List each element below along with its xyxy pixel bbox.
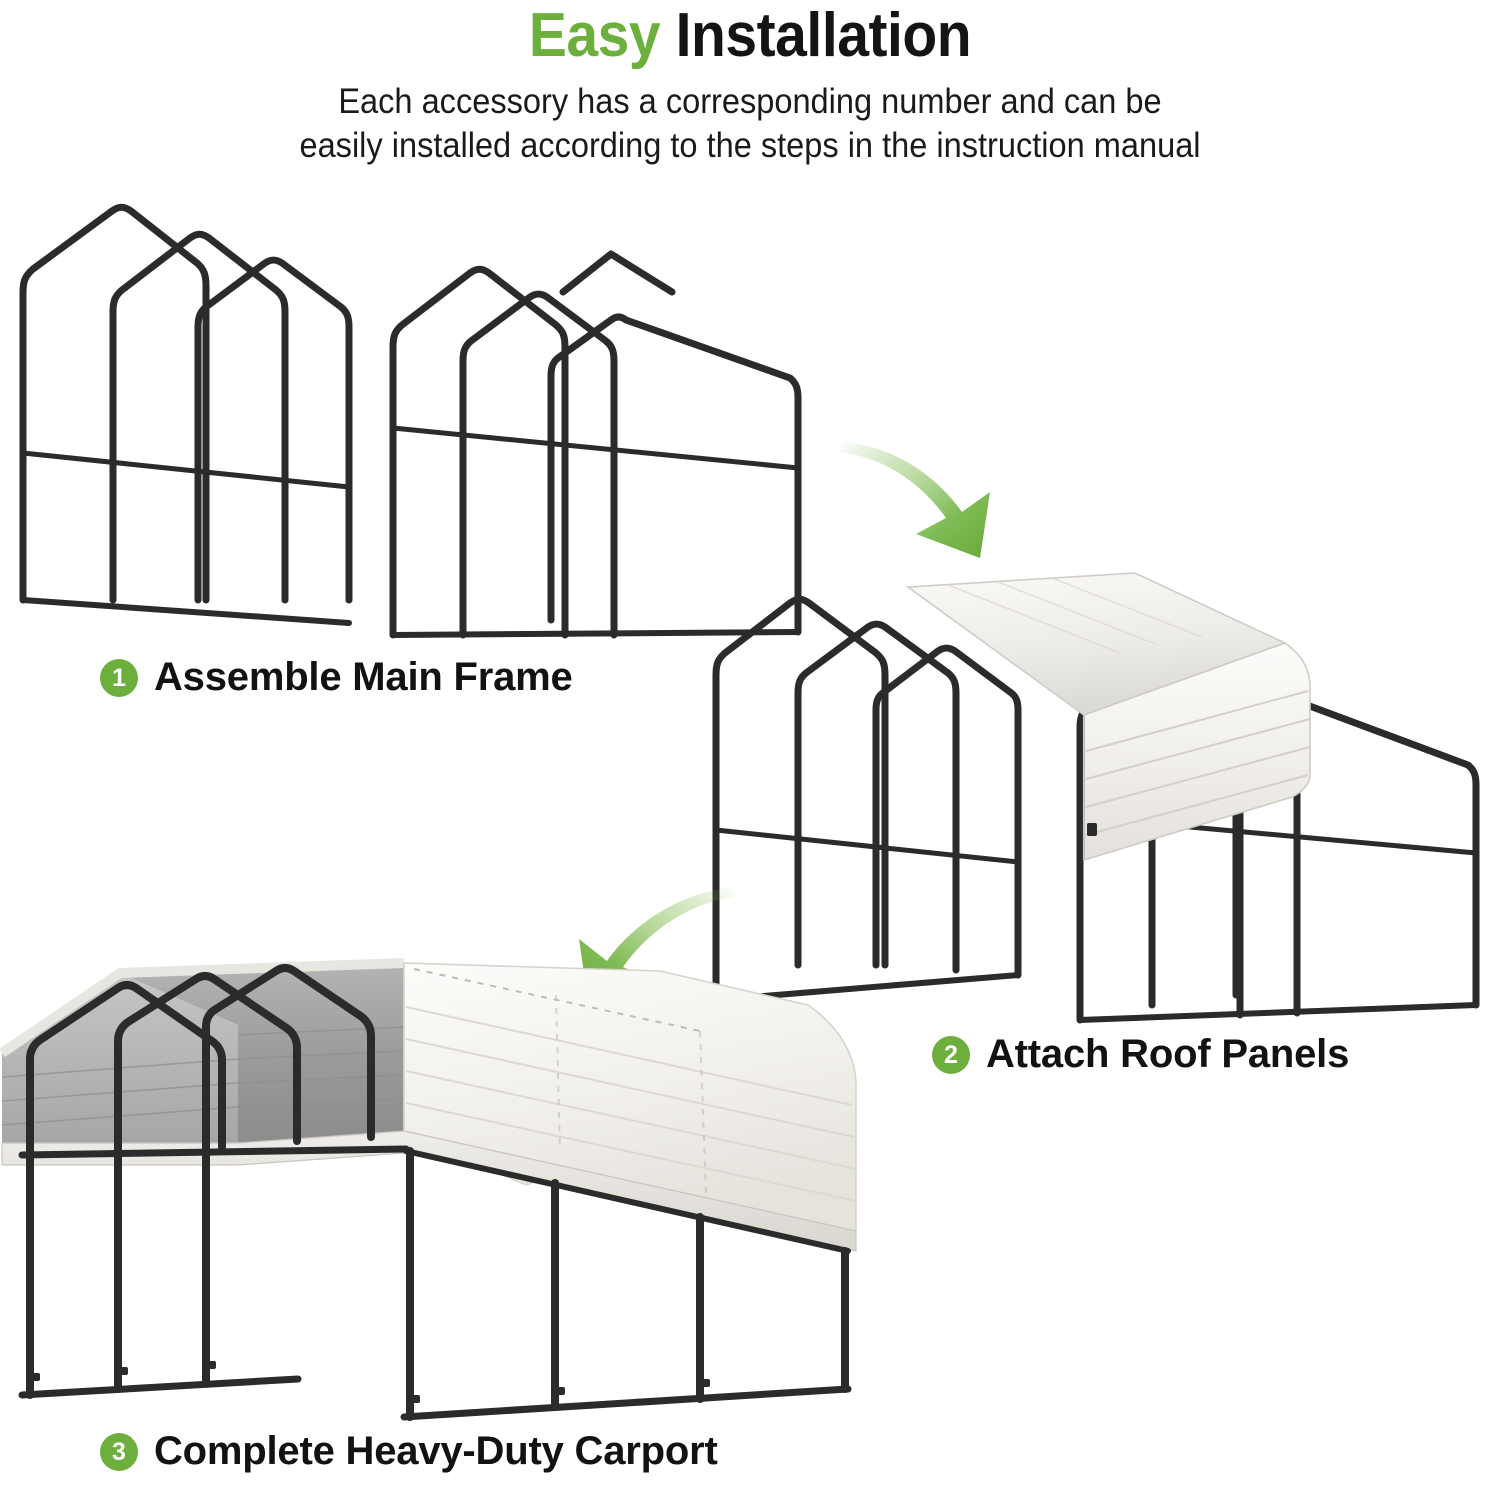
step-number-badge-3: 3 xyxy=(100,1433,138,1471)
page-title-rest: Installation xyxy=(660,1,971,70)
step-caption-2: 2 Attach Roof Panels xyxy=(932,1032,1349,1077)
page-subtitle-line-2: easily installed according to the steps … xyxy=(53,124,1448,168)
page-title-accent: Easy xyxy=(529,1,660,70)
step-caption-3: 3 Complete Heavy-Duty Carport xyxy=(100,1429,718,1474)
curved-arrow-down-right-icon xyxy=(830,430,1070,570)
page-subtitle: Each accessory has a corresponding numbe… xyxy=(53,70,1448,168)
header: Easy Installation Each accessory has a c… xyxy=(0,0,1500,168)
page-title: Easy Installation xyxy=(60,0,1440,70)
carport-complete-illustration xyxy=(0,955,880,1425)
step-number-badge-2: 2 xyxy=(932,1036,970,1074)
step-caption-1: 1 Assemble Main Frame xyxy=(100,655,573,700)
step-label-1: Assemble Main Frame xyxy=(154,655,573,700)
step-label-3: Complete Heavy-Duty Carport xyxy=(154,1429,718,1474)
step-label-2: Attach Roof Panels xyxy=(986,1032,1349,1077)
page-subtitle-line-1: Each accessory has a corresponding numbe… xyxy=(53,80,1448,124)
step-number-badge-1: 1 xyxy=(100,659,138,697)
